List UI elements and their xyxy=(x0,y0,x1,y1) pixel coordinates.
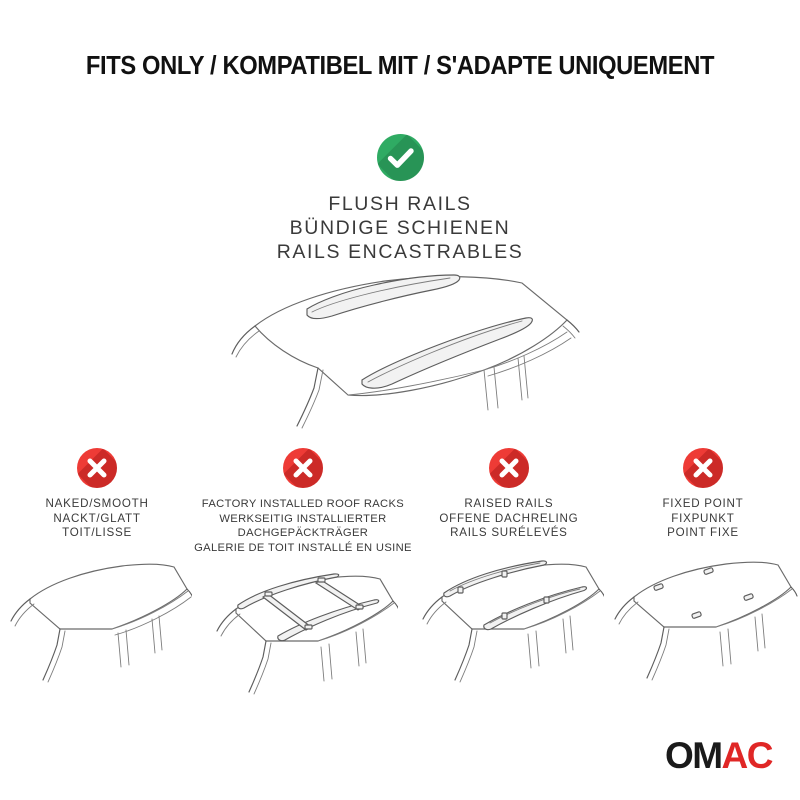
option-label-de: OFFENE DACHRELING xyxy=(412,512,606,527)
option-label-en: RAISED RAILS xyxy=(412,497,606,512)
option-label-de: NACKT/GLATT xyxy=(0,512,194,527)
option-label-fr: RAILS SURÉLEVÉS xyxy=(412,526,606,541)
option-label-de: FIXPUNKT xyxy=(606,512,800,527)
approved-label-fr: RAILS ENCASTRABLES xyxy=(0,240,800,264)
car-roof-factory-racks-illustration xyxy=(194,561,412,711)
x-circle-icon xyxy=(77,448,117,488)
page-title: FITS ONLY / KOMPATIBEL MIT / S'ADAPTE UN… xyxy=(28,52,772,81)
omac-logo: OMAC xyxy=(665,737,772,774)
approved-label-en: FLUSH RAILS xyxy=(0,192,800,216)
car-roof-raised-rails-illustration xyxy=(412,547,606,697)
x-circle-icon xyxy=(283,448,323,488)
incompatible-sections: NAKED/SMOOTH NACKT/GLATT TOIT/LISSE xyxy=(0,448,800,711)
option-label: FIXED POINT FIXPUNKT POINT FIXE xyxy=(606,497,800,541)
option-label-de-1: WERKSEITIG INSTALLIERTER xyxy=(194,512,412,527)
logo-text-dark: OM xyxy=(665,735,722,776)
incompatible-option-fixed-point: FIXED POINT FIXPUNKT POINT FIXE xyxy=(606,448,800,697)
logo-text-red: AC xyxy=(722,735,772,776)
option-label: NAKED/SMOOTH NACKT/GLATT TOIT/LISSE xyxy=(0,497,194,541)
x-circle-icon xyxy=(683,448,723,488)
option-label: FACTORY INSTALLED ROOF RACKS WERKSEITIG … xyxy=(194,497,412,555)
x-circle-icon xyxy=(489,448,529,488)
option-label: RAISED RAILS OFFENE DACHRELING RAILS SUR… xyxy=(412,497,606,541)
approved-section: FLUSH RAILS BÜNDIGE SCHIENEN RAILS ENCAS… xyxy=(0,134,800,264)
option-label-en: NAKED/SMOOTH xyxy=(0,497,194,512)
car-roof-fixed-point-illustration xyxy=(606,547,800,697)
incompatible-option-factory-roof-racks: FACTORY INSTALLED ROOF RACKS WERKSEITIG … xyxy=(194,448,412,711)
approved-label-de: BÜNDIGE SCHIENEN xyxy=(0,216,800,240)
incompatible-option-naked-smooth: NAKED/SMOOTH NACKT/GLATT TOIT/LISSE xyxy=(0,448,194,697)
option-label-en: FACTORY INSTALLED ROOF RACKS xyxy=(194,497,412,512)
incompatible-option-raised-rails: RAISED RAILS OFFENE DACHRELING RAILS SUR… xyxy=(412,448,606,697)
check-circle-icon xyxy=(377,134,424,181)
approved-label: FLUSH RAILS BÜNDIGE SCHIENEN RAILS ENCAS… xyxy=(0,192,800,264)
car-roof-with-flush-rails-illustration xyxy=(222,264,582,434)
car-roof-naked-smooth-illustration xyxy=(0,547,194,697)
option-label-fr: TOIT/LISSE xyxy=(0,526,194,541)
option-label-fr: POINT FIXE xyxy=(606,526,800,541)
option-label-de-2: DACHGEPÄCKTRÄGER xyxy=(194,526,412,541)
option-label-en: FIXED POINT xyxy=(606,497,800,512)
option-label-fr: GALERIE DE TOIT INSTALLÉ EN USINE xyxy=(194,541,412,556)
